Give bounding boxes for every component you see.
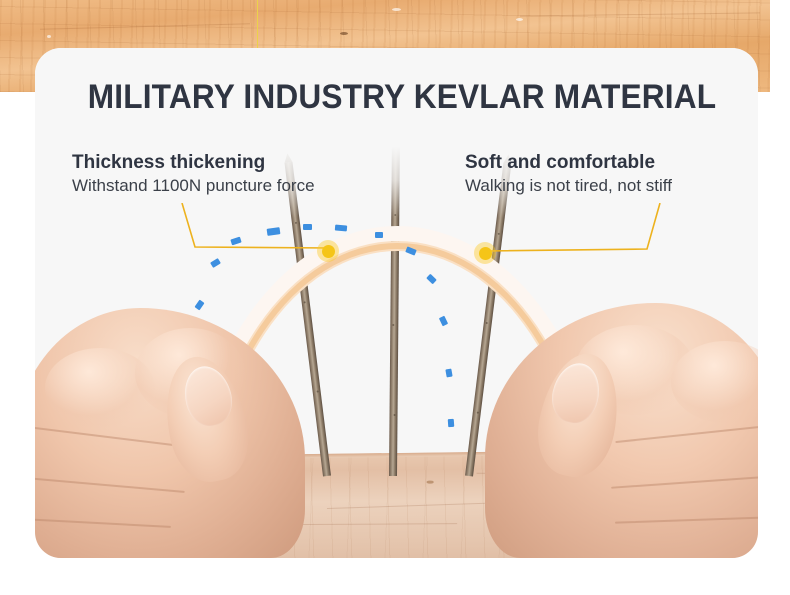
- strip-print-mark: [210, 258, 221, 268]
- strip-print-mark: [375, 232, 383, 238]
- feature-comfort: Soft and comfortable Walking is not tire…: [465, 151, 672, 197]
- strip-print-mark: [267, 227, 281, 236]
- promo-banner: MILITARY INDUSTRY KEVLAR MATERIAL Thickn…: [0, 0, 790, 595]
- wood-speck: [47, 35, 51, 38]
- feature-thickness-desc: Withstand 1100N puncture force: [72, 175, 315, 197]
- page-title: MILITARY INDUSTRY KEVLAR MATERIAL: [86, 78, 718, 117]
- feature-thickness-title: Thickness thickening: [72, 151, 315, 175]
- content-card: MILITARY INDUSTRY KEVLAR MATERIAL Thickn…: [35, 48, 758, 558]
- feature-thickness: Thickness thickening Withstand 1100N pun…: [72, 151, 315, 197]
- product-photo: [35, 48, 758, 558]
- strip-print-mark: [303, 224, 312, 230]
- wood-knot: [340, 32, 348, 35]
- wood-speck: [516, 18, 523, 21]
- feature-comfort-title: Soft and comfortable: [465, 151, 672, 175]
- wood-speck: [392, 8, 401, 11]
- wood-grain-line: [40, 23, 250, 29]
- strip-print-mark: [335, 224, 347, 231]
- strip-print-mark: [230, 237, 241, 246]
- wood-grain-line: [520, 12, 760, 16]
- callout-dot-right: [474, 242, 496, 264]
- strip-print-mark: [448, 419, 455, 427]
- strip-print-mark: [445, 369, 452, 378]
- feature-comfort-desc: Walking is not tired, not stiff: [465, 175, 672, 197]
- callout-dot-left: [317, 240, 339, 262]
- strip-print-mark: [194, 300, 204, 311]
